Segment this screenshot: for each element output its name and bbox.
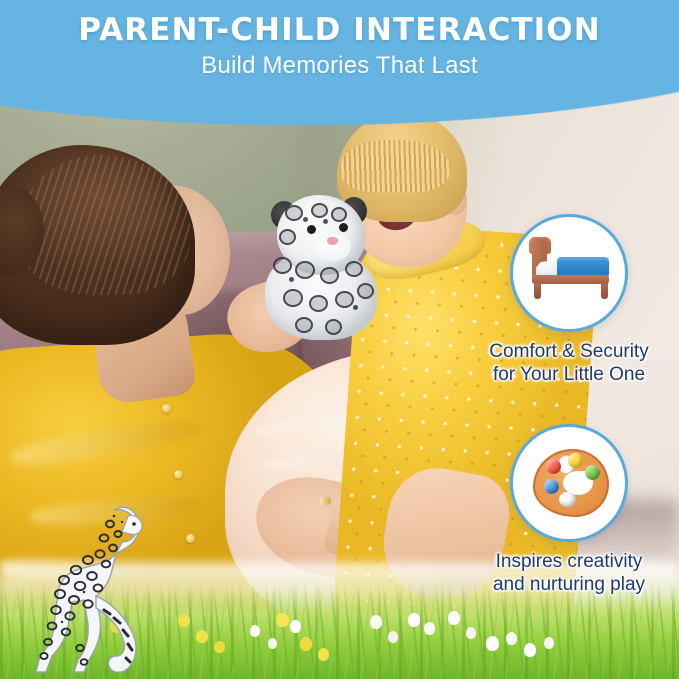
wedding-ring — [320, 497, 331, 505]
feature-creativity-line2: and nurturing play — [474, 574, 664, 596]
yellow-flower — [178, 614, 190, 627]
feature-comfort-line2: for Your Little One — [474, 364, 664, 386]
plush-nose — [327, 237, 338, 245]
blouse-button — [174, 470, 183, 479]
plush-spot — [353, 305, 358, 310]
feature-comfort-security: Comfort & Security for Your Little One — [474, 214, 664, 386]
yellow-flower — [318, 648, 329, 661]
bed-base — [532, 275, 609, 284]
bed-leg — [601, 283, 608, 299]
yellow-flower — [300, 637, 312, 651]
yellow-flower — [276, 613, 289, 627]
white-flower — [524, 643, 536, 657]
white-flower — [290, 620, 301, 633]
white-flower — [486, 636, 499, 651]
plush-spot — [279, 229, 296, 245]
plush-spot — [303, 217, 308, 222]
paint-dab-blue — [544, 479, 559, 494]
plush-spot — [283, 289, 303, 307]
plush-spot — [357, 283, 374, 299]
feature-icon-circle — [510, 214, 628, 332]
paint-dab-yellow — [568, 453, 583, 468]
plush-spot — [311, 203, 328, 218]
white-flower — [370, 615, 382, 629]
white-flower — [250, 625, 260, 637]
paint-dab-green — [585, 465, 600, 480]
plush-spot — [289, 277, 294, 282]
yellow-flower — [214, 641, 225, 653]
bed-leg — [534, 283, 541, 299]
plush-spot — [325, 319, 342, 335]
white-flower — [544, 637, 554, 649]
banner-subtitle: Build Memories That Last — [0, 52, 679, 80]
plush-spot — [295, 261, 315, 279]
white-flower — [448, 611, 460, 625]
blouse-button — [162, 404, 171, 413]
plush-spot — [295, 317, 313, 333]
plush-eye — [307, 225, 316, 234]
mother-hair-strands — [20, 155, 190, 295]
paint-dab-red — [546, 459, 561, 474]
feature-creativity-line1: Inspires creativity — [474, 551, 664, 573]
child-bangs — [340, 140, 450, 192]
plush-spot — [309, 295, 328, 312]
plush-snow-leopard-toy — [265, 195, 380, 340]
feature-icon-circle — [510, 424, 628, 542]
yellow-flower — [196, 630, 208, 643]
white-flower — [408, 613, 420, 627]
white-flower — [506, 632, 517, 645]
blouse-button — [186, 534, 195, 543]
plush-spot — [323, 219, 328, 224]
snow-leopard-figurine — [18, 498, 150, 676]
product-infographic: PARENT-CHILD INTERACTION Build Memories … — [0, 0, 679, 679]
white-flower — [424, 622, 435, 635]
white-flower — [388, 631, 398, 643]
feature-inspires-creativity: Inspires creativity and nurturing play — [474, 424, 664, 596]
plush-spot — [320, 267, 339, 284]
plush-spot — [345, 261, 363, 277]
feature-comfort-line1: Comfort & Security — [474, 341, 664, 363]
plush-spot — [273, 257, 292, 274]
plush-spot — [285, 205, 303, 221]
white-flower — [466, 627, 476, 639]
paint-dab-white — [559, 492, 576, 507]
banner-title: PARENT-CHILD INTERACTION — [0, 12, 679, 48]
plush-spot — [335, 291, 354, 308]
plush-eye — [339, 223, 348, 232]
plush-spot — [331, 207, 347, 222]
white-flower — [268, 638, 277, 649]
